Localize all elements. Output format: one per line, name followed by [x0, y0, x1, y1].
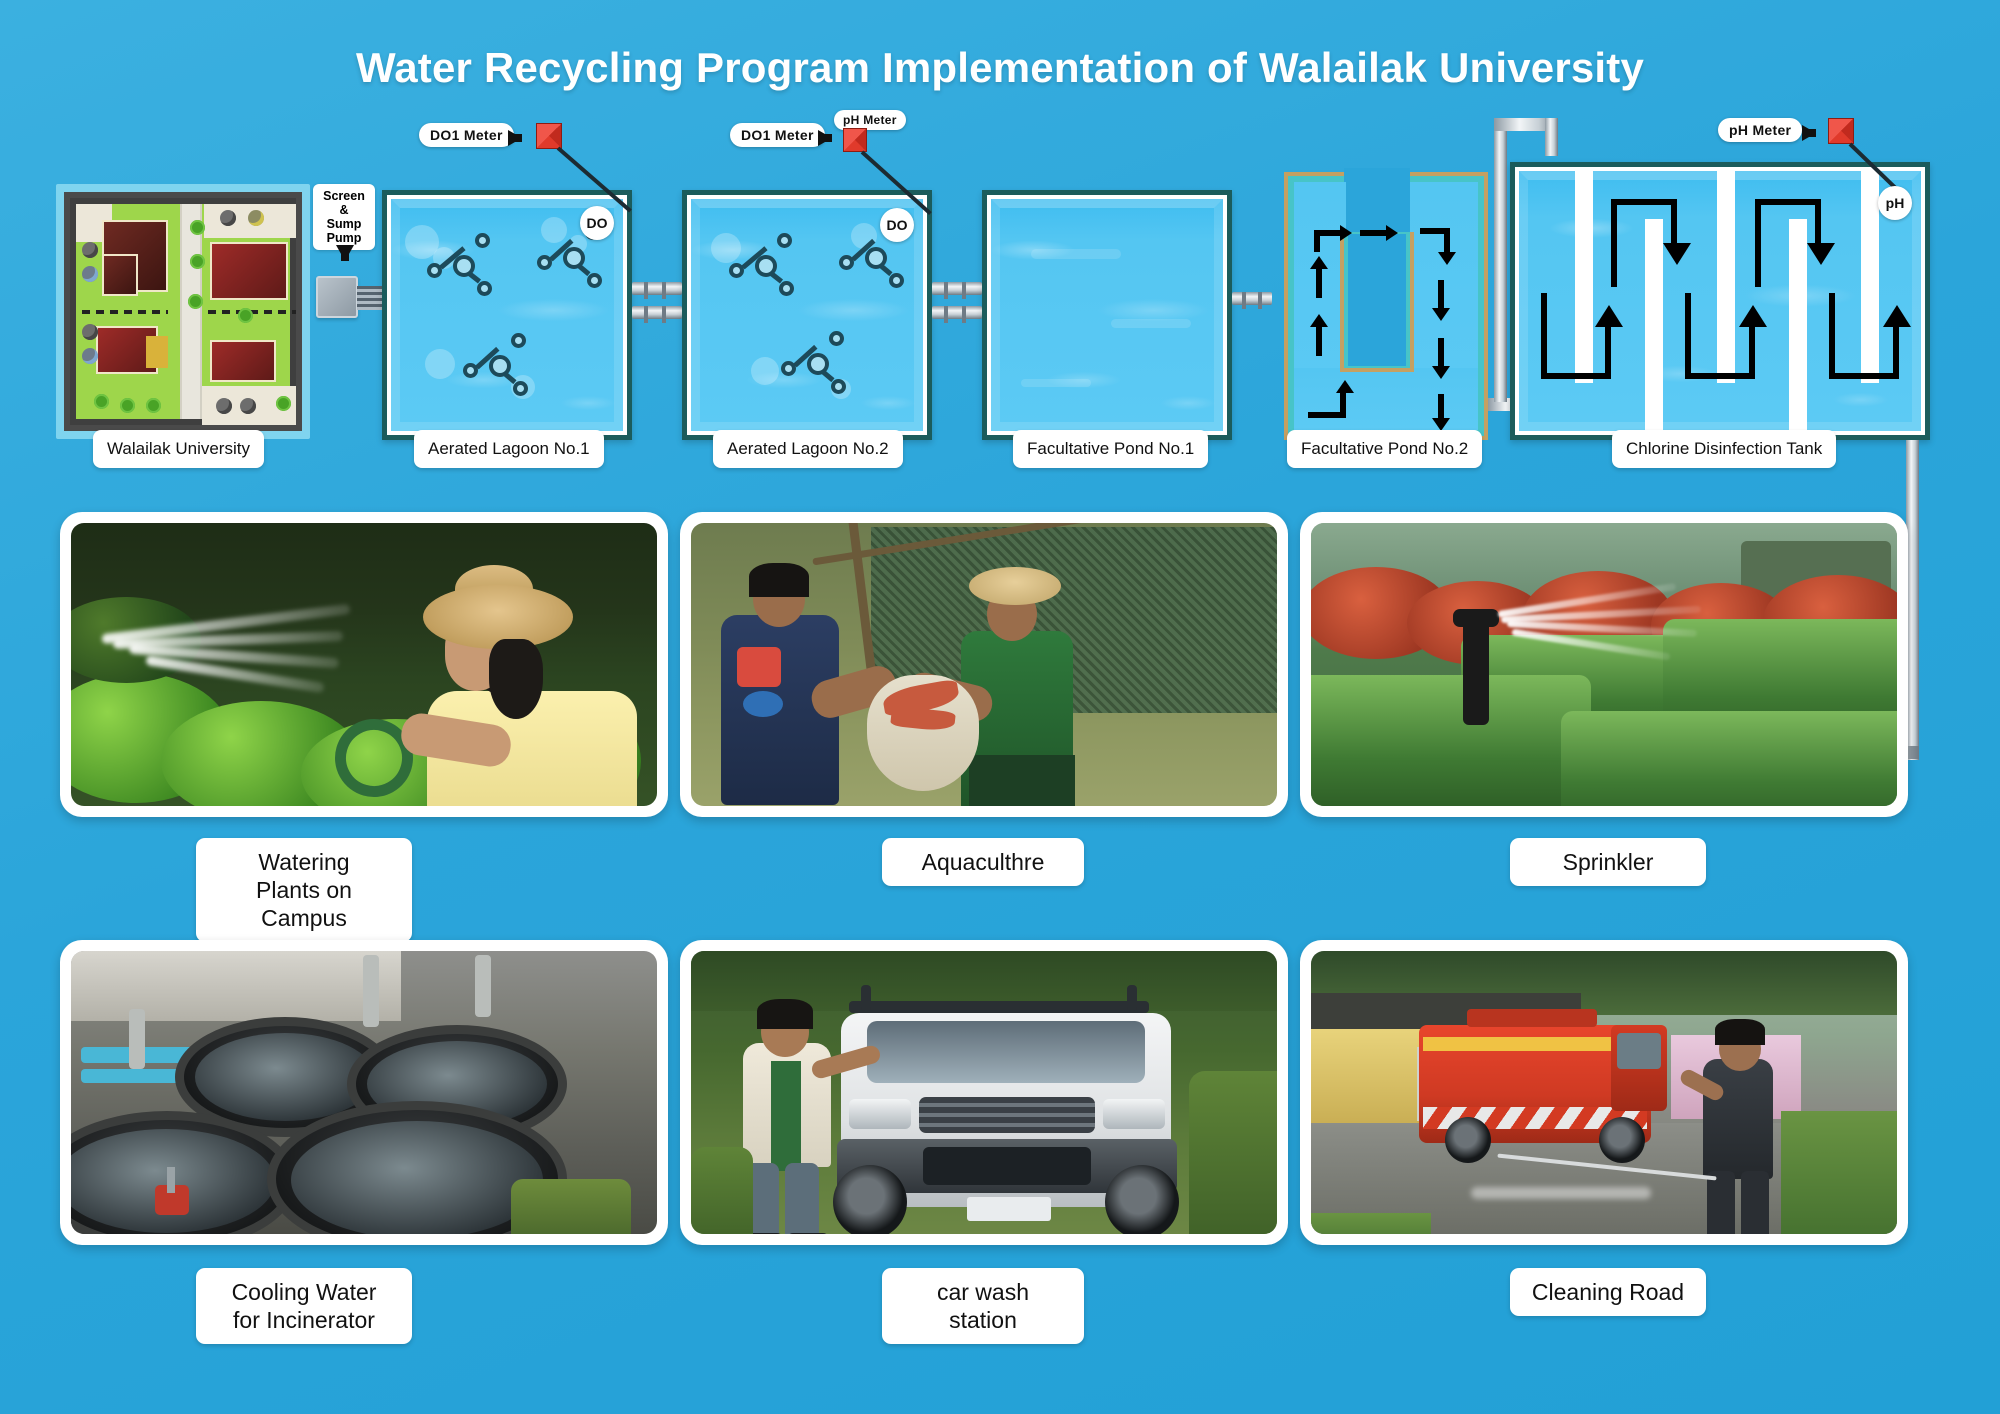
use-card-watering — [60, 512, 668, 817]
do1-meter-chip-lagoon1: DO1 Meter — [419, 123, 514, 147]
chlorine-disinfection-tank — [1510, 162, 1930, 440]
campus-map-unit — [56, 184, 310, 439]
pipe-facpond1-to-facpond2 — [1232, 292, 1272, 308]
pipe-lagoon2-to-facpond1 — [932, 282, 982, 322]
campus-map-graphic — [64, 192, 302, 431]
step-label-aerated-lagoon-2: Aerated Lagoon No.2 — [713, 430, 903, 468]
molecule-icon — [457, 331, 537, 401]
step-label-walailak-university: Walailak University — [93, 430, 264, 468]
baffle-wall — [1575, 171, 1593, 383]
pipe-lagoon1-to-lagoon2 — [632, 282, 682, 322]
photo-aquaculture — [691, 523, 1277, 806]
pump-down-arrow-icon — [336, 245, 354, 261]
molecule-icon — [775, 329, 855, 399]
facultative-pond-2-unit — [1284, 172, 1488, 440]
step-label-aerated-lagoon-1: Aerated Lagoon No.1 — [414, 430, 604, 468]
use-card-car-wash — [680, 940, 1288, 1245]
caption-car-wash: car wash station — [882, 1268, 1084, 1344]
use-card-cleaning-road — [1300, 940, 1908, 1245]
meter-arrow-icon — [508, 130, 522, 146]
ph-meter-chip-lagoon2: pH Meter — [834, 110, 906, 130]
ph-meter-box-icon-chlorine — [1828, 118, 1854, 144]
photo-cleaning-road — [1311, 951, 1897, 1234]
facpond2-water-bottom — [1294, 368, 1478, 430]
molecule-icon — [419, 229, 499, 299]
meter-arrow-icon — [1802, 125, 1816, 141]
step-label-chlorine-tank: Chlorine Disinfection Tank — [1612, 430, 1836, 468]
process-flow-diagram: Screen & Sump Pump — [0, 140, 2000, 470]
person-cleaning — [1703, 1059, 1773, 1179]
caption-sprinkler: Sprinkler — [1510, 838, 1706, 886]
baffle-wall — [1717, 171, 1735, 383]
use-card-sprinkler — [1300, 512, 1908, 817]
screen-sump-pump-label: Screen & Sump Pump — [313, 184, 375, 250]
photo-watering-plants — [71, 523, 657, 806]
caption-aquaculture: Aquaculthre — [882, 838, 1084, 886]
ph-probe-dot-chlorine: pH — [1878, 186, 1912, 220]
do1-meter-chip-lagoon2: DO1 Meter — [730, 123, 825, 147]
photo-car-wash — [691, 951, 1277, 1234]
photo-cooling-water — [71, 951, 657, 1234]
sump-pump-box-icon — [316, 276, 358, 318]
ph-meter-box-icon-lagoon2 — [843, 128, 867, 152]
caption-cooling-water: Cooling Water for Incinerator — [196, 1268, 412, 1344]
photo-sprinkler — [1311, 523, 1897, 806]
molecule-icon — [721, 229, 801, 299]
do-probe-dot-lagoon1: DO — [580, 206, 614, 240]
step-label-facultative-pond-2: Facultative Pond No.2 — [1287, 430, 1482, 468]
step-label-facultative-pond-1: Facultative Pond No.1 — [1013, 430, 1208, 468]
do1-meter-box-icon-lagoon1 — [536, 123, 562, 149]
page-title: Water Recycling Program Implementation o… — [0, 44, 2000, 92]
baffle-wall — [1861, 171, 1879, 383]
facultative-pond-1-tank — [982, 190, 1232, 440]
ph-meter-chip-chlorine: pH Meter — [1718, 118, 1802, 142]
do-probe-dot-lagoon2: DO — [880, 208, 914, 242]
caption-watering: Watering Plants on Campus — [196, 838, 412, 942]
baffle-wall — [1789, 219, 1807, 431]
meter-arrow-icon — [818, 130, 832, 146]
use-card-cooling-water — [60, 940, 668, 1245]
baffle-wall — [1645, 219, 1663, 431]
caption-cleaning-road: Cleaning Road — [1510, 1268, 1706, 1316]
use-card-aquaculture — [680, 512, 1288, 817]
